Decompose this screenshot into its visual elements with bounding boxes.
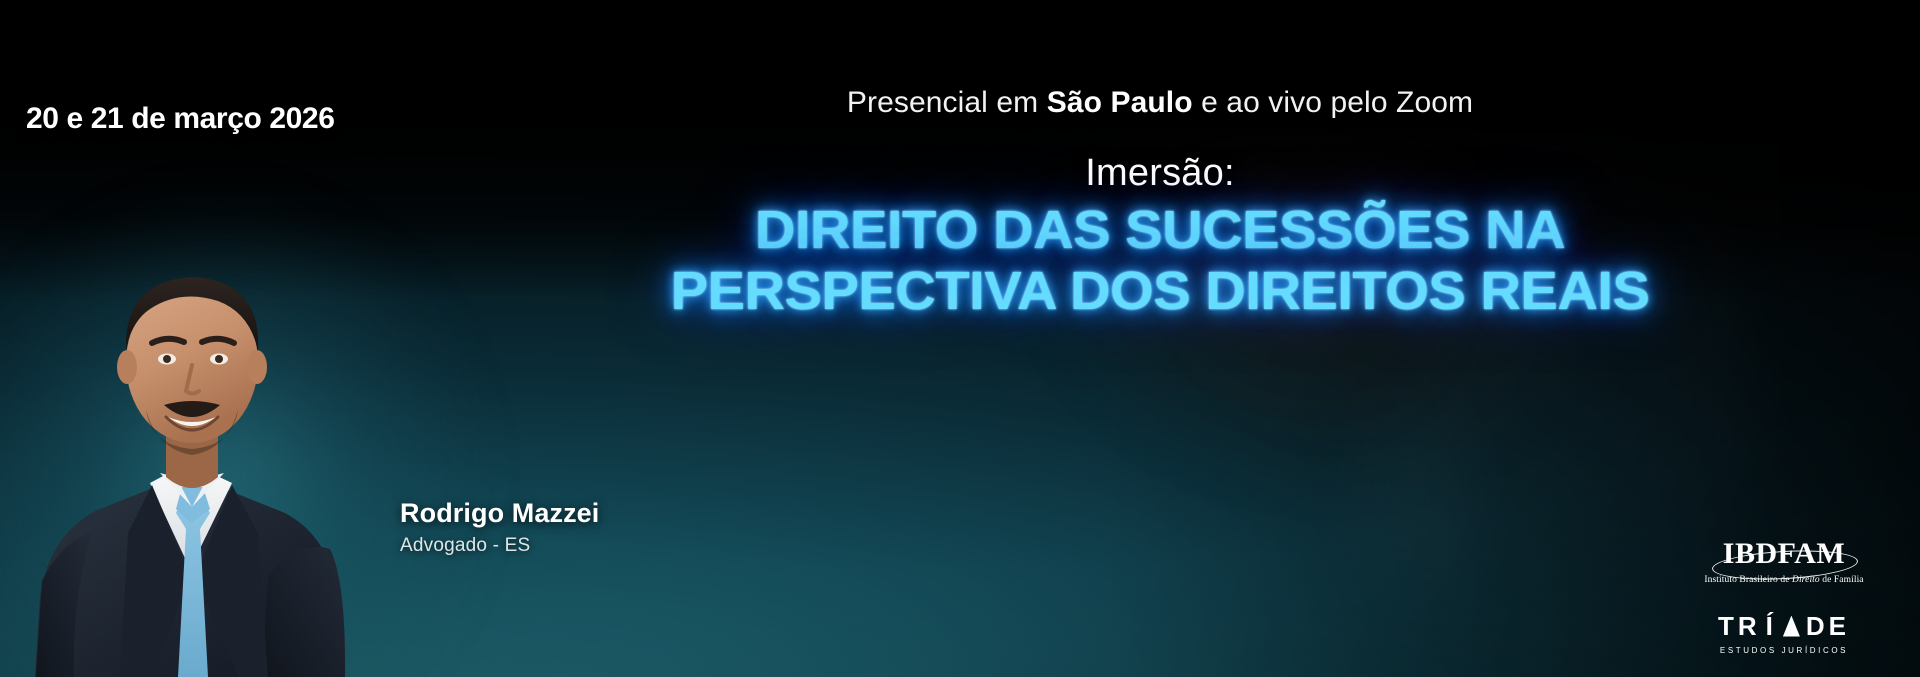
event-banner: 20 e 21 de março 2026 Presencial em São … — [0, 0, 1920, 677]
event-date: 20 e 21 de março 2026 — [26, 102, 335, 136]
speaker-info: Rodrigo Mazzei Advogado - ES — [400, 498, 599, 557]
venue-city: São Paulo — [1047, 86, 1193, 119]
triade-letters-tr: TR — [1718, 613, 1761, 639]
headline-block: Presencial em São Paulo e ao vivo pelo Z… — [400, 86, 1920, 321]
triade-wordmark: TRÍDE — [1684, 613, 1884, 639]
logo-group: IBDFAM Instituto Brasileiro de Direito d… — [1684, 535, 1884, 655]
event-title-line-2: PERSPECTIVA DOS DIREITOS REAIS — [370, 261, 1920, 321]
triade-logo: TRÍDE ESTUDOS JURÍDICOS — [1684, 613, 1884, 655]
triade-letter-i-acute: Í — [1766, 613, 1777, 639]
venue-suffix: e ao vivo pelo Zoom — [1193, 86, 1473, 119]
venue-prefix: Presencial em — [847, 86, 1047, 119]
speaker-role: Advogado - ES — [400, 535, 599, 557]
triangle-a-icon — [1783, 616, 1800, 637]
ibdfam-logo: IBDFAM Instituto Brasileiro de Direito d… — [1684, 535, 1884, 597]
event-title: DIREITO DAS SUCESSÕES NA PERSPECTIVA DOS… — [370, 200, 1920, 321]
event-kicker: Imersão: — [400, 153, 1920, 195]
ibdfam-tagline-part-3: de Família — [1820, 575, 1864, 585]
event-title-line-1: DIREITO DAS SUCESSÕES NA — [370, 200, 1920, 260]
speaker-name: Rodrigo Mazzei — [400, 498, 599, 529]
triade-tagline: ESTUDOS JURÍDICOS — [1684, 646, 1884, 655]
speaker-photo — [0, 177, 420, 677]
triade-letters-de: DE — [1806, 613, 1850, 639]
speaker-portrait-illustration — [0, 177, 420, 677]
venue-line: Presencial em São Paulo e ao vivo pelo Z… — [400, 86, 1920, 121]
